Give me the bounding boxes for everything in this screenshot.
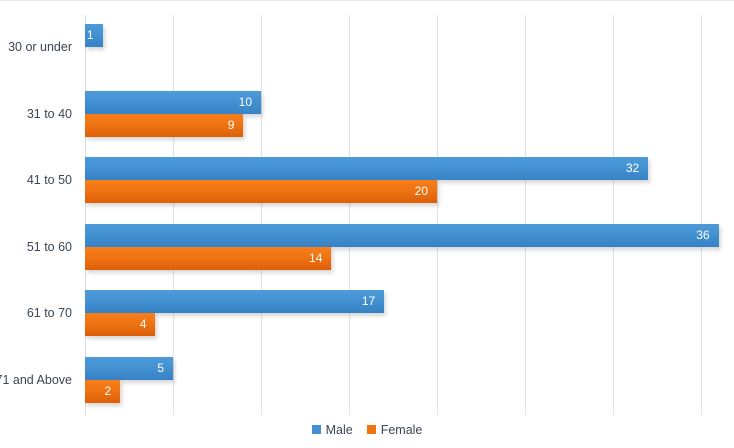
gridline-20 [437, 15, 438, 415]
gridline-5 [173, 15, 174, 415]
category-group: 61 to 70174 [0, 290, 734, 336]
chart-legend: MaleFemale [0, 424, 734, 437]
bar-value-female-5: 4 [140, 313, 147, 336]
gridline-0 [85, 15, 86, 415]
legend-swatch-female-icon [367, 425, 376, 434]
bar-value-male-6: 5 [157, 357, 164, 380]
legend-label-male: Male [326, 424, 353, 437]
bar-value-male-1: 1 [87, 24, 94, 47]
category-label-2: 31 to 40 [0, 108, 72, 121]
category-group: 41 to 503220 [0, 157, 734, 203]
bar-female-2[interactable]: 9 [85, 114, 243, 137]
legend-item-male[interactable]: Male [312, 424, 353, 437]
category-group: 31 to 40109 [0, 91, 734, 137]
bar-female-3[interactable]: 20 [85, 180, 437, 203]
category-label-6: 71 and Above [0, 374, 72, 387]
category-label-3: 41 to 50 [0, 174, 72, 187]
category-label-4: 51 to 60 [0, 241, 72, 254]
bar-value-male-3: 32 [626, 157, 639, 180]
bar-value-male-2: 10 [239, 91, 252, 114]
bar-male-2[interactable]: 10 [85, 91, 261, 114]
bar-male-3[interactable]: 32 [85, 157, 648, 180]
bar-male-6[interactable]: 5 [85, 357, 173, 380]
gridline-15 [349, 15, 350, 415]
bar-female-6[interactable]: 2 [85, 380, 120, 403]
legend-item-female[interactable]: Female [367, 424, 423, 437]
bar-value-female-3: 20 [415, 180, 428, 203]
bar-female-5[interactable]: 4 [85, 313, 155, 336]
bar-male-1[interactable]: 1 [85, 24, 103, 47]
bar-value-female-2: 9 [228, 114, 235, 137]
legend-label-female: Female [381, 424, 423, 437]
bar-value-male-5: 17 [362, 290, 375, 313]
category-label-5: 61 to 70 [0, 307, 72, 320]
bar-value-female-6: 2 [105, 380, 112, 403]
bar-male-4[interactable]: 36 [85, 224, 719, 247]
gridline-10 [261, 15, 262, 415]
gridline-25 [525, 15, 526, 415]
bar-male-5[interactable]: 17 [85, 290, 384, 313]
bar-value-male-4: 36 [696, 224, 709, 247]
gridline-30 [613, 15, 614, 415]
bar-female-4[interactable]: 14 [85, 247, 331, 270]
legend-swatch-male-icon [312, 425, 321, 434]
bar-value-female-4: 14 [309, 247, 322, 270]
category-label-1: 30 or under [0, 41, 72, 54]
gridline-35 [701, 15, 702, 415]
category-group: 30 or under1 [0, 24, 734, 70]
bar-chart: 30 or under131 to 4010941 to 50322051 to… [0, 0, 734, 448]
category-group: 51 to 603614 [0, 224, 734, 270]
category-group: 71 and Above52 [0, 357, 734, 403]
plot-area [85, 15, 700, 415]
